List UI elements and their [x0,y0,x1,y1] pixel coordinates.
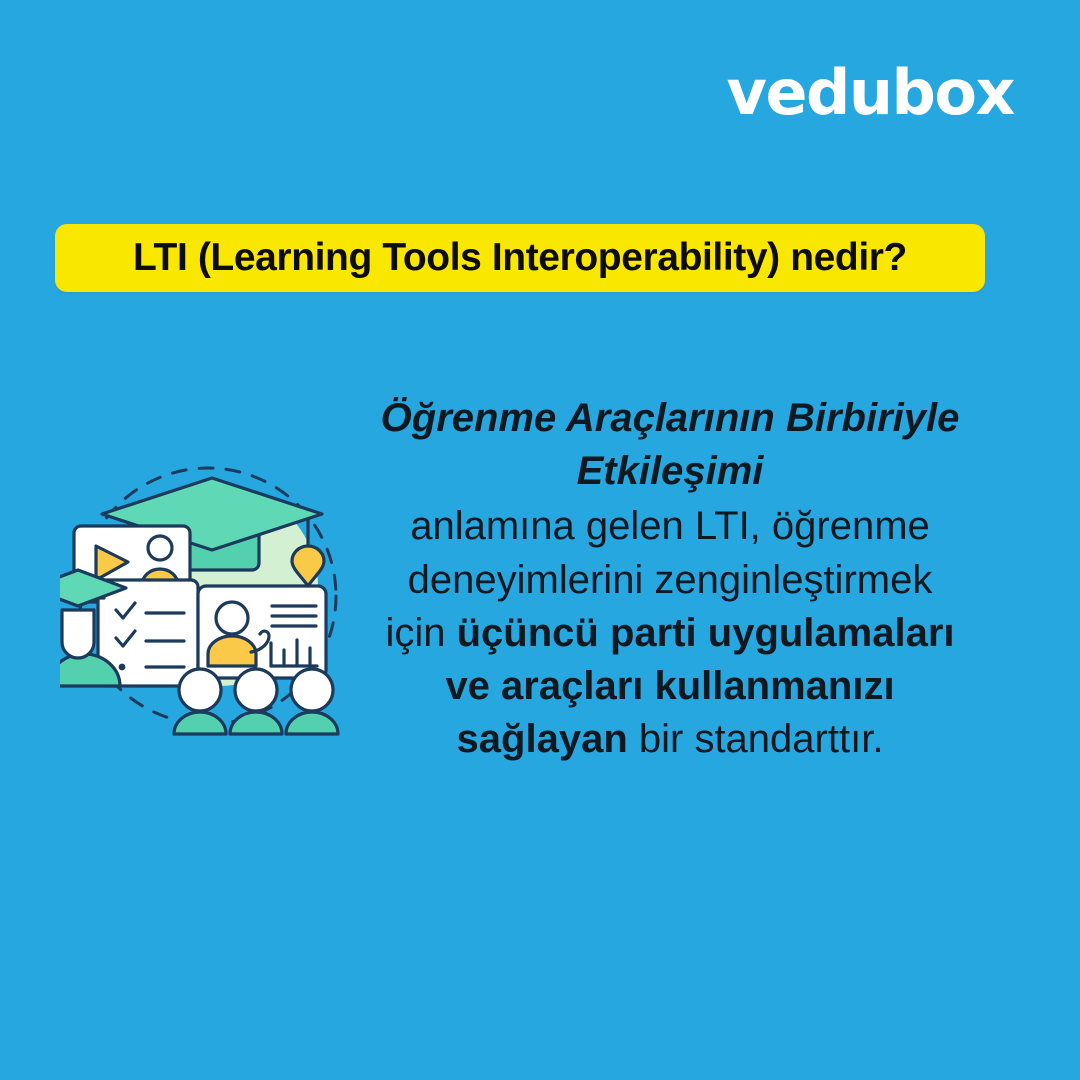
audience-person-2 [230,669,282,734]
page-title: LTI (Learning Tools Interoperability) ne… [133,236,907,280]
vedubox-logo: vedubox [727,62,1014,124]
bullet-dot [119,664,126,671]
body-copy-lead: Öğrenme Araçlarının Birbiriyle Etkileşim… [375,392,965,498]
audience-person-3 [286,669,338,734]
body-copy-part-2: bir standarttır. [628,717,884,761]
audience-person-1 [174,669,226,734]
presentation-board [198,586,326,678]
avatar-head [148,536,172,560]
body-copy: Öğrenme Araçlarının Birbiriyle Etkileşim… [375,392,965,766]
presenter-head [216,602,248,634]
presenter-body [208,636,256,666]
title-banner: LTI (Learning Tools Interoperability) ne… [55,224,985,292]
logo-wordmark: vedubox [727,62,1014,124]
e-learning-tools-illustration: .ol { fill:none; stroke:#1B3A5C; stroke-… [60,438,370,748]
audience-people [174,669,338,734]
